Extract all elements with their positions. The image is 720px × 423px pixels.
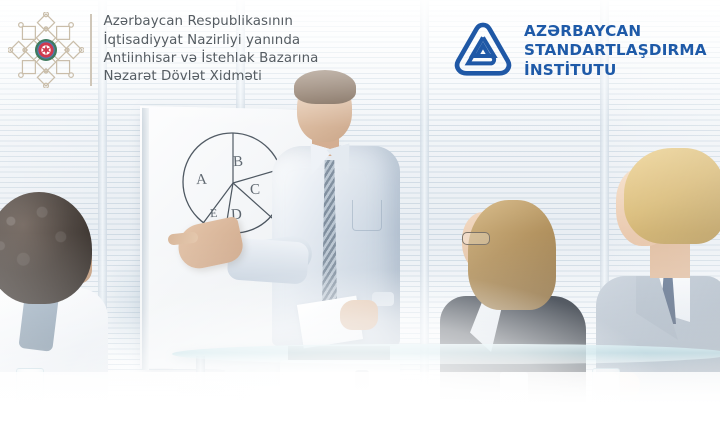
logo-divider bbox=[90, 14, 92, 86]
banner-image: A B C D E bbox=[0, 0, 720, 423]
window-mullion bbox=[420, 0, 429, 400]
pie-slice-label-a: A bbox=[196, 172, 208, 189]
presenter-shirt-pocket bbox=[352, 200, 382, 231]
logo-standardization-institute: AZƏRBAYCAN STANDARTLAŞDIRMA İNSTİTUTU bbox=[452, 20, 707, 82]
glass-conference-table bbox=[172, 344, 720, 364]
logo-left-line-4: Nəzarət Dövlət Xidməti bbox=[104, 68, 319, 86]
asi-line-2: STANDARTLAŞDIRMA bbox=[524, 41, 707, 61]
pie-slice-label-c: C bbox=[250, 182, 261, 199]
presenter-right-hand bbox=[340, 300, 378, 330]
logo-left-line-2: İqtisadiyyat Nazirliyi yanında bbox=[104, 32, 319, 50]
azerbaijan-ornament-emblem-icon bbox=[8, 12, 84, 88]
asi-line-1: AZƏRBAYCAN bbox=[524, 22, 707, 42]
pie-slice-label-b: B bbox=[233, 154, 244, 171]
logo-left-line-1: Azərbaycan Respublikasının bbox=[104, 13, 319, 31]
pie-slice-label-e: E bbox=[210, 206, 218, 221]
asi-triangle-s-mark-icon bbox=[452, 20, 514, 82]
whiteboard-edge bbox=[142, 108, 149, 370]
logo-antimonopoly-service: Azərbaycan Respublikasının İqtisadiyyat … bbox=[8, 12, 318, 88]
attendee-right-hair bbox=[624, 148, 720, 244]
asi-title: AZƏRBAYCAN STANDARTLAŞDIRMA İNSTİTUTU bbox=[524, 22, 707, 81]
attendee-right-neck bbox=[650, 238, 690, 278]
table-foreground bbox=[0, 372, 720, 423]
glasses-icon bbox=[462, 232, 490, 245]
national-emblem bbox=[35, 39, 57, 61]
attendee-center-right-hair bbox=[468, 200, 556, 310]
logo-left-line-3: Antiinhisar və İstehlak Bazarına bbox=[104, 50, 319, 68]
asi-line-3: İNSTİTUTU bbox=[524, 61, 707, 81]
logo-left-title: Azərbaycan Respublikasının İqtisadiyyat … bbox=[104, 13, 319, 87]
